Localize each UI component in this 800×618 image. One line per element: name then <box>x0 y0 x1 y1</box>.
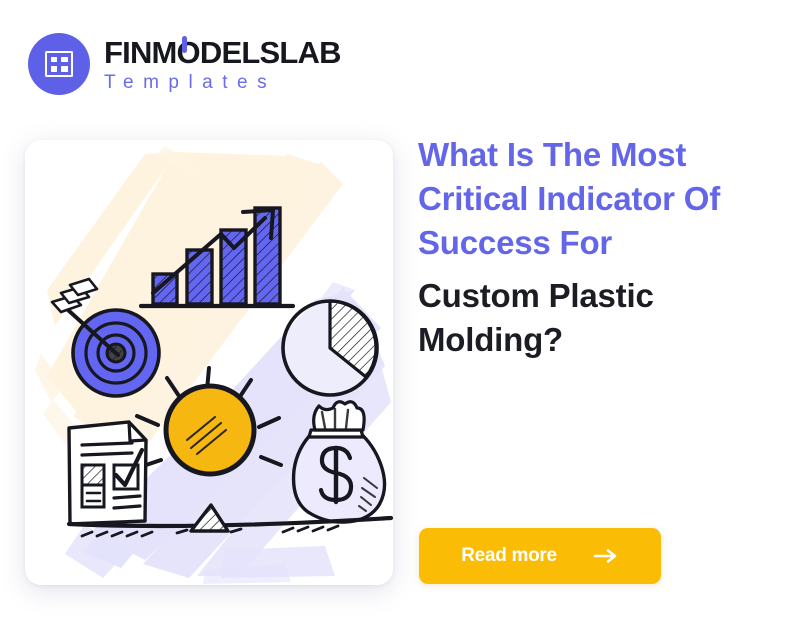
business-success-illustration <box>25 140 393 585</box>
grid-logo-glyph <box>45 51 73 77</box>
grid-cell <box>61 57 68 63</box>
arrow-right-icon <box>593 549 619 563</box>
power-mark-icon <box>182 36 187 53</box>
grid-logo-icon <box>28 33 90 95</box>
brand-tagline: Templates <box>104 73 341 92</box>
pie-chart-icon <box>283 301 377 395</box>
blog-promo-banner: FINMODELSLAB Templates <box>0 0 800 618</box>
page-title: What Is The Most Critical Indicator Of S… <box>418 133 778 265</box>
checklist-document-icon <box>69 422 146 524</box>
promo-copy: What Is The Most Critical Indicator Of S… <box>418 133 778 361</box>
brand-logo[interactable]: FINMODELSLAB Templates <box>28 33 341 95</box>
grid-cell <box>51 66 58 72</box>
glowing-coin-icon <box>166 386 254 474</box>
grid-cell <box>51 57 58 63</box>
illustration-card <box>25 140 393 585</box>
brand-wordmark: FINMODELSLAB Templates <box>104 37 341 92</box>
grid-cell <box>61 66 68 72</box>
read-more-button[interactable]: Read more <box>419 528 661 584</box>
brand-name: FINMODELSLAB <box>104 37 341 68</box>
brand-name-text: FINMODELSLAB <box>104 35 341 70</box>
page-subtitle: Custom Plastic Molding? <box>418 274 778 362</box>
read-more-label: Read more <box>461 545 557 567</box>
